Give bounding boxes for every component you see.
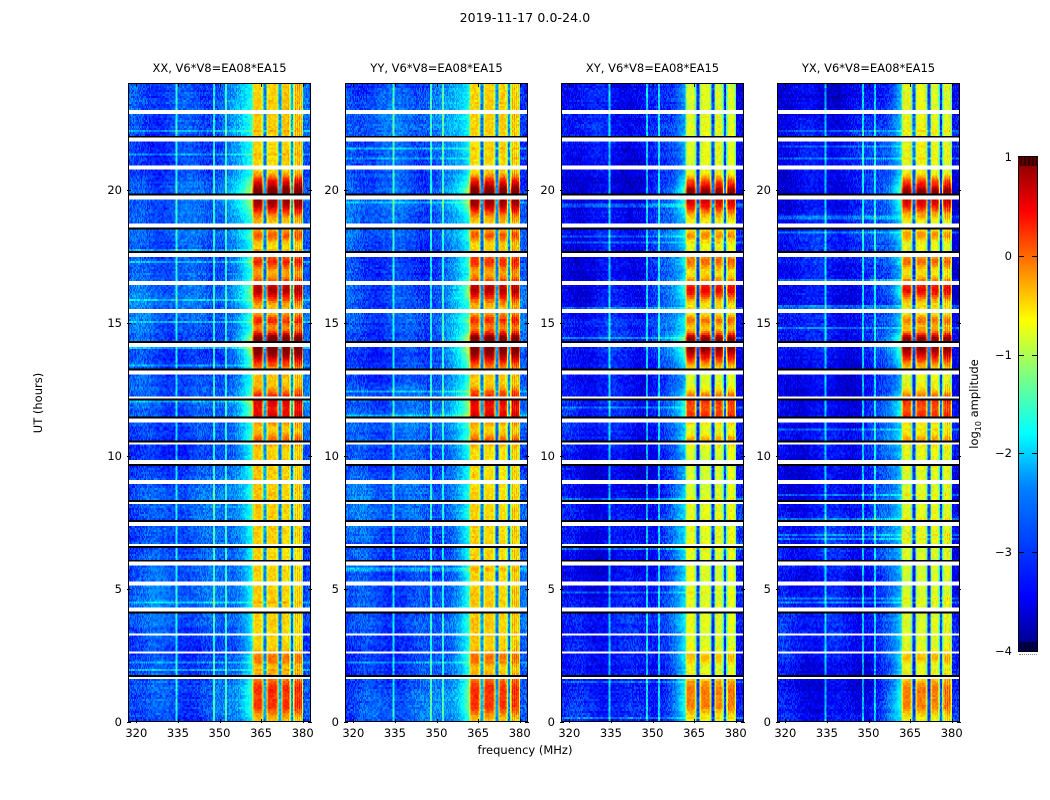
y-tick-0 xyxy=(560,722,564,723)
x-tick-top-350 xyxy=(220,83,221,87)
colorbar-title-prefix: log xyxy=(967,431,981,449)
x-tick-365 xyxy=(261,719,262,723)
x-tick-top-320 xyxy=(136,83,137,87)
dynamic-spectrum-image xyxy=(346,84,527,721)
panel-axes-xx xyxy=(128,83,311,722)
y-tick-label-xy-20: 20 xyxy=(529,183,555,197)
panel-title-xx: XX, V6*V8=EA08*EA15 xyxy=(98,61,341,75)
x-tick-365 xyxy=(910,719,911,723)
x-tick-label-350: 350 xyxy=(209,726,231,740)
x-tick-350 xyxy=(437,719,438,723)
colorbar-tick-label-0: 0 xyxy=(978,249,1012,263)
x-tick-top-380 xyxy=(736,83,737,87)
x-tick-top-335 xyxy=(827,83,828,87)
y-tick-label-xy-15: 15 xyxy=(529,316,555,330)
x-tick-top-350 xyxy=(653,83,654,87)
dynamic-spectrum-image xyxy=(778,84,959,721)
y-tick-label-yy-5: 5 xyxy=(313,582,339,596)
y-tick-5 xyxy=(344,589,348,590)
y-tick-label-xx-0: 0 xyxy=(96,715,122,729)
y-tick-label-yx-20: 20 xyxy=(745,183,771,197)
y-tick-right-5 xyxy=(957,589,961,590)
y-tick-right-0 xyxy=(957,722,961,723)
x-tick-top-365 xyxy=(478,83,479,87)
x-tick-320 xyxy=(136,719,137,723)
y-tick-label-xy-10: 10 xyxy=(529,449,555,463)
x-tick-label-350: 350 xyxy=(426,726,448,740)
y-tick-label-xx-15: 15 xyxy=(96,316,122,330)
x-axis-title: frequency (MHz) xyxy=(0,743,1050,757)
x-tick-label-350: 350 xyxy=(858,726,880,740)
y-tick-label-yy-10: 10 xyxy=(313,449,339,463)
x-tick-top-320 xyxy=(569,83,570,87)
panel-yy[interactable]: YY, V6*V8=EA08*EA15 xyxy=(345,83,528,722)
panel-title-xy: XY, V6*V8=EA08*EA15 xyxy=(531,61,774,75)
x-tick-335 xyxy=(178,719,179,723)
colorbar-tick--3 xyxy=(1019,552,1024,553)
y-tick-right-10 xyxy=(308,456,312,457)
y-tick-5 xyxy=(127,589,131,590)
x-tick-380 xyxy=(736,719,737,723)
x-tick-320 xyxy=(569,719,570,723)
y-tick-5 xyxy=(776,589,780,590)
y-tick-right-15 xyxy=(308,323,312,324)
x-tick-365 xyxy=(478,719,479,723)
panel-xy[interactable]: XY, V6*V8=EA08*EA15 xyxy=(561,83,744,722)
y-tick-label-yy-15: 15 xyxy=(313,316,339,330)
panel-title-yy: YY, V6*V8=EA08*EA15 xyxy=(315,61,558,75)
y-tick-0 xyxy=(776,722,780,723)
y-tick-label-xx-5: 5 xyxy=(96,582,122,596)
y-tick-15 xyxy=(560,323,564,324)
y-tick-10 xyxy=(560,456,564,457)
y-tick-right-0 xyxy=(308,722,312,723)
x-tick-top-380 xyxy=(303,83,304,87)
y-tick-label-yx-5: 5 xyxy=(745,582,771,596)
y-tick-10 xyxy=(344,456,348,457)
panel-axes-yy xyxy=(345,83,528,722)
x-tick-label-365: 365 xyxy=(899,726,921,740)
x-tick-320 xyxy=(785,719,786,723)
x-tick-label-380: 380 xyxy=(941,726,963,740)
colorbar-tick-right-0 xyxy=(1032,256,1037,257)
colorbar-tick-0 xyxy=(1019,256,1024,257)
dynamic-spectrum-image xyxy=(129,84,310,721)
x-tick-label-320: 320 xyxy=(558,726,580,740)
x-tick-label-320: 320 xyxy=(774,726,796,740)
colorbar-tick-label--4: −4 xyxy=(978,644,1012,658)
colorbar-tick-label--3: −3 xyxy=(978,545,1012,559)
y-tick-label-yx-15: 15 xyxy=(745,316,771,330)
x-tick-top-365 xyxy=(694,83,695,87)
y-tick-0 xyxy=(127,722,131,723)
panel-title-yx: YX, V6*V8=EA08*EA15 xyxy=(747,61,990,75)
x-tick-350 xyxy=(653,719,654,723)
colorbar-tick--2 xyxy=(1019,453,1024,454)
colorbar-tick-right--2 xyxy=(1032,453,1037,454)
x-tick-335 xyxy=(827,719,828,723)
y-tick-15 xyxy=(776,323,780,324)
x-tick-top-320 xyxy=(353,83,354,87)
y-tick-20 xyxy=(560,190,564,191)
x-tick-label-335: 335 xyxy=(167,726,189,740)
x-tick-380 xyxy=(520,719,521,723)
y-tick-5 xyxy=(560,589,564,590)
x-tick-label-380: 380 xyxy=(509,726,531,740)
x-tick-label-365: 365 xyxy=(683,726,705,740)
panel-yx[interactable]: YX, V6*V8=EA08*EA15 xyxy=(777,83,960,722)
y-tick-right-20 xyxy=(957,190,961,191)
y-tick-label-xx-20: 20 xyxy=(96,183,122,197)
x-tick-label-380: 380 xyxy=(292,726,314,740)
x-tick-top-365 xyxy=(910,83,911,87)
y-tick-right-20 xyxy=(308,190,312,191)
y-tick-right-15 xyxy=(957,323,961,324)
x-tick-top-380 xyxy=(520,83,521,87)
colorbar-tick-right--3 xyxy=(1032,552,1037,553)
colorbar-tick-right--4 xyxy=(1032,651,1037,652)
y-tick-label-xx-10: 10 xyxy=(96,449,122,463)
colorbar-tick-label-1: 1 xyxy=(978,150,1012,164)
y-tick-20 xyxy=(127,190,131,191)
x-tick-top-335 xyxy=(395,83,396,87)
x-tick-label-335: 335 xyxy=(600,726,622,740)
x-tick-350 xyxy=(220,719,221,723)
x-tick-label-365: 365 xyxy=(250,726,272,740)
colorbar-tick-right--1 xyxy=(1032,355,1037,356)
x-tick-label-320: 320 xyxy=(342,726,364,740)
colorbar-extend-min xyxy=(1018,642,1038,651)
y-tick-right-10 xyxy=(957,456,961,457)
y-tick-10 xyxy=(776,456,780,457)
y-tick-15 xyxy=(344,323,348,324)
y-tick-label-yx-0: 0 xyxy=(745,715,771,729)
y-tick-label-xy-0: 0 xyxy=(529,715,555,729)
colorbar-tick--4 xyxy=(1019,651,1024,652)
y-tick-20 xyxy=(344,190,348,191)
y-tick-right-5 xyxy=(308,589,312,590)
x-tick-top-350 xyxy=(437,83,438,87)
colorbar[interactable] xyxy=(1018,156,1038,652)
y-tick-15 xyxy=(127,323,131,324)
panel-axes-xy xyxy=(561,83,744,722)
y-tick-label-yx-10: 10 xyxy=(745,449,771,463)
colorbar-tick--1 xyxy=(1019,355,1024,356)
x-tick-label-380: 380 xyxy=(725,726,747,740)
y-tick-0 xyxy=(344,722,348,723)
colorbar-title-suffix: amplitude xyxy=(967,359,981,421)
y-tick-20 xyxy=(776,190,780,191)
x-tick-label-335: 335 xyxy=(816,726,838,740)
colorbar-extend-max xyxy=(1018,157,1038,166)
x-tick-320 xyxy=(353,719,354,723)
panel-xx[interactable]: XX, V6*V8=EA08*EA15 xyxy=(128,83,311,722)
figure-suptitle: 2019-11-17 0.0-24.0 xyxy=(0,10,1050,25)
y-tick-label-xy-5: 5 xyxy=(529,582,555,596)
y-axis-title: UT (hours) xyxy=(31,373,45,433)
y-tick-10 xyxy=(127,456,131,457)
x-tick-335 xyxy=(395,719,396,723)
x-tick-top-380 xyxy=(952,83,953,87)
x-tick-350 xyxy=(869,719,870,723)
x-tick-335 xyxy=(611,719,612,723)
figure-canvas: 2019-11-17 0.0-24.0 XX, V6*V8=EA08*EA15Y… xyxy=(0,0,1050,800)
x-tick-top-335 xyxy=(611,83,612,87)
x-tick-top-350 xyxy=(869,83,870,87)
y-tick-label-yy-0: 0 xyxy=(313,715,339,729)
dynamic-spectrum-image xyxy=(562,84,743,721)
x-tick-365 xyxy=(694,719,695,723)
x-tick-label-350: 350 xyxy=(642,726,664,740)
x-tick-top-365 xyxy=(261,83,262,87)
x-tick-top-320 xyxy=(785,83,786,87)
x-tick-top-335 xyxy=(178,83,179,87)
colorbar-underline xyxy=(1019,654,1037,656)
y-tick-label-yy-20: 20 xyxy=(313,183,339,197)
x-tick-label-320: 320 xyxy=(125,726,147,740)
panel-axes-yx xyxy=(777,83,960,722)
x-tick-label-365: 365 xyxy=(467,726,489,740)
x-tick-380 xyxy=(952,719,953,723)
x-tick-380 xyxy=(303,719,304,723)
colorbar-title: log10 amplitude xyxy=(967,359,983,449)
colorbar-title-sub: 10 xyxy=(974,421,983,431)
x-tick-label-335: 335 xyxy=(384,726,406,740)
